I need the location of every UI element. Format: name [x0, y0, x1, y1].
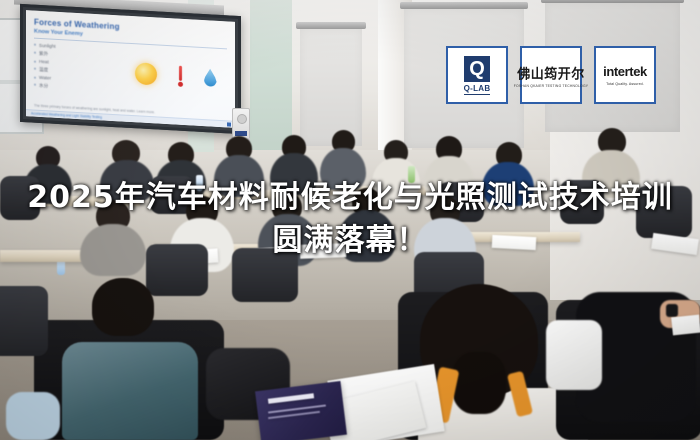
printed-handout — [492, 235, 537, 250]
office-chair — [636, 186, 692, 238]
logo-foshan-qkaier: 佛山筠开尔 FOSHAN QKAIER TESTING TECHNOLOGY — [520, 46, 582, 104]
intertek-wordmark: intertek — [603, 64, 647, 79]
printed-handout — [671, 315, 700, 336]
logo-q-lab: Q Q-LAB — [446, 46, 508, 104]
attendee-body — [482, 162, 534, 206]
office-chair — [146, 244, 208, 296]
water-bottle — [408, 166, 415, 183]
q-lab-mark: Q — [464, 56, 490, 82]
wristwatch — [666, 304, 678, 317]
white-bag — [546, 320, 602, 390]
foshan-subtext: FOSHAN QKAIER TESTING TECHNOLOGY — [514, 84, 588, 88]
water-bottle — [196, 175, 203, 191]
office-chair — [0, 176, 40, 220]
office-chair — [0, 286, 48, 356]
attendee-body — [338, 210, 396, 262]
office-chair — [232, 248, 298, 302]
office-chair — [560, 180, 604, 224]
printed-handout — [651, 233, 699, 255]
attendee-body — [62, 342, 198, 440]
attendee-body — [320, 148, 366, 190]
foshan-wordmark: 佛山筠开尔 — [517, 62, 585, 82]
event-photo: Forces of Weathering Know Your Enemy Sun… — [0, 0, 700, 440]
attendee-body — [270, 153, 318, 195]
attendee-body — [214, 155, 264, 197]
logo-intertek: intertek Total Quality. Assured. — [594, 46, 656, 104]
attendee-body — [80, 224, 146, 276]
intertek-tagline: Total Quality. Assured. — [606, 82, 644, 86]
printed-handout — [300, 243, 346, 259]
partner-logo-bar: Q Q-LAB 佛山筠开尔 FOSHAN QKAIER TESTING TECH… — [446, 46, 656, 104]
attendee-body — [100, 160, 154, 202]
ponytail — [452, 352, 506, 414]
attendee-head — [92, 278, 154, 336]
q-lab-wordmark: Q-LAB — [464, 84, 491, 95]
attendee-shoulder — [6, 392, 60, 440]
